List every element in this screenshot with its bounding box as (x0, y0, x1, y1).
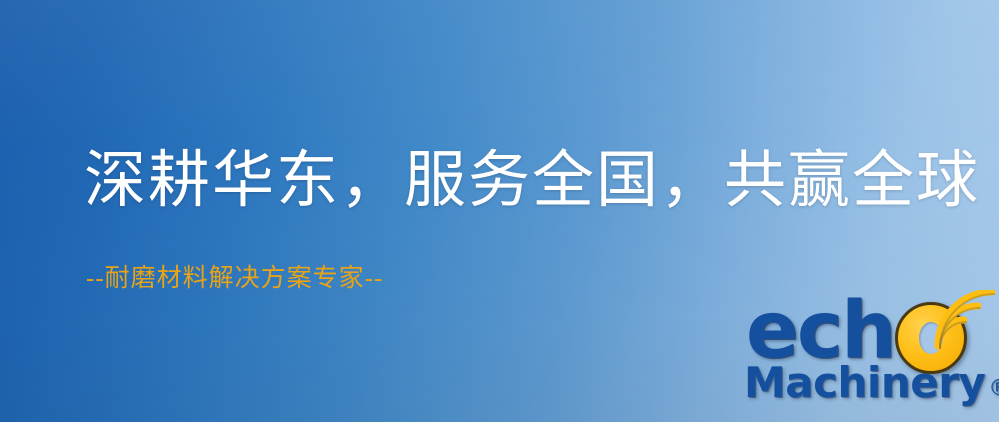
banner-headline: 深耕华东，服务全国，共赢全球 (84, 150, 980, 212)
logo-machinery-label: Machinery (744, 358, 985, 407)
logo-text-machinery: Machinery® (744, 362, 999, 404)
signal-waves-icon (932, 290, 999, 352)
registered-trademark-icon: ® (988, 376, 999, 401)
company-logo: ech Machinery® (744, 296, 999, 422)
promotional-banner: 深耕华东，服务全国，共赢全球 --耐磨材料解决方案专家-- ech (0, 0, 999, 422)
banner-subtitle: --耐磨材料解决方案专家-- (86, 266, 383, 291)
